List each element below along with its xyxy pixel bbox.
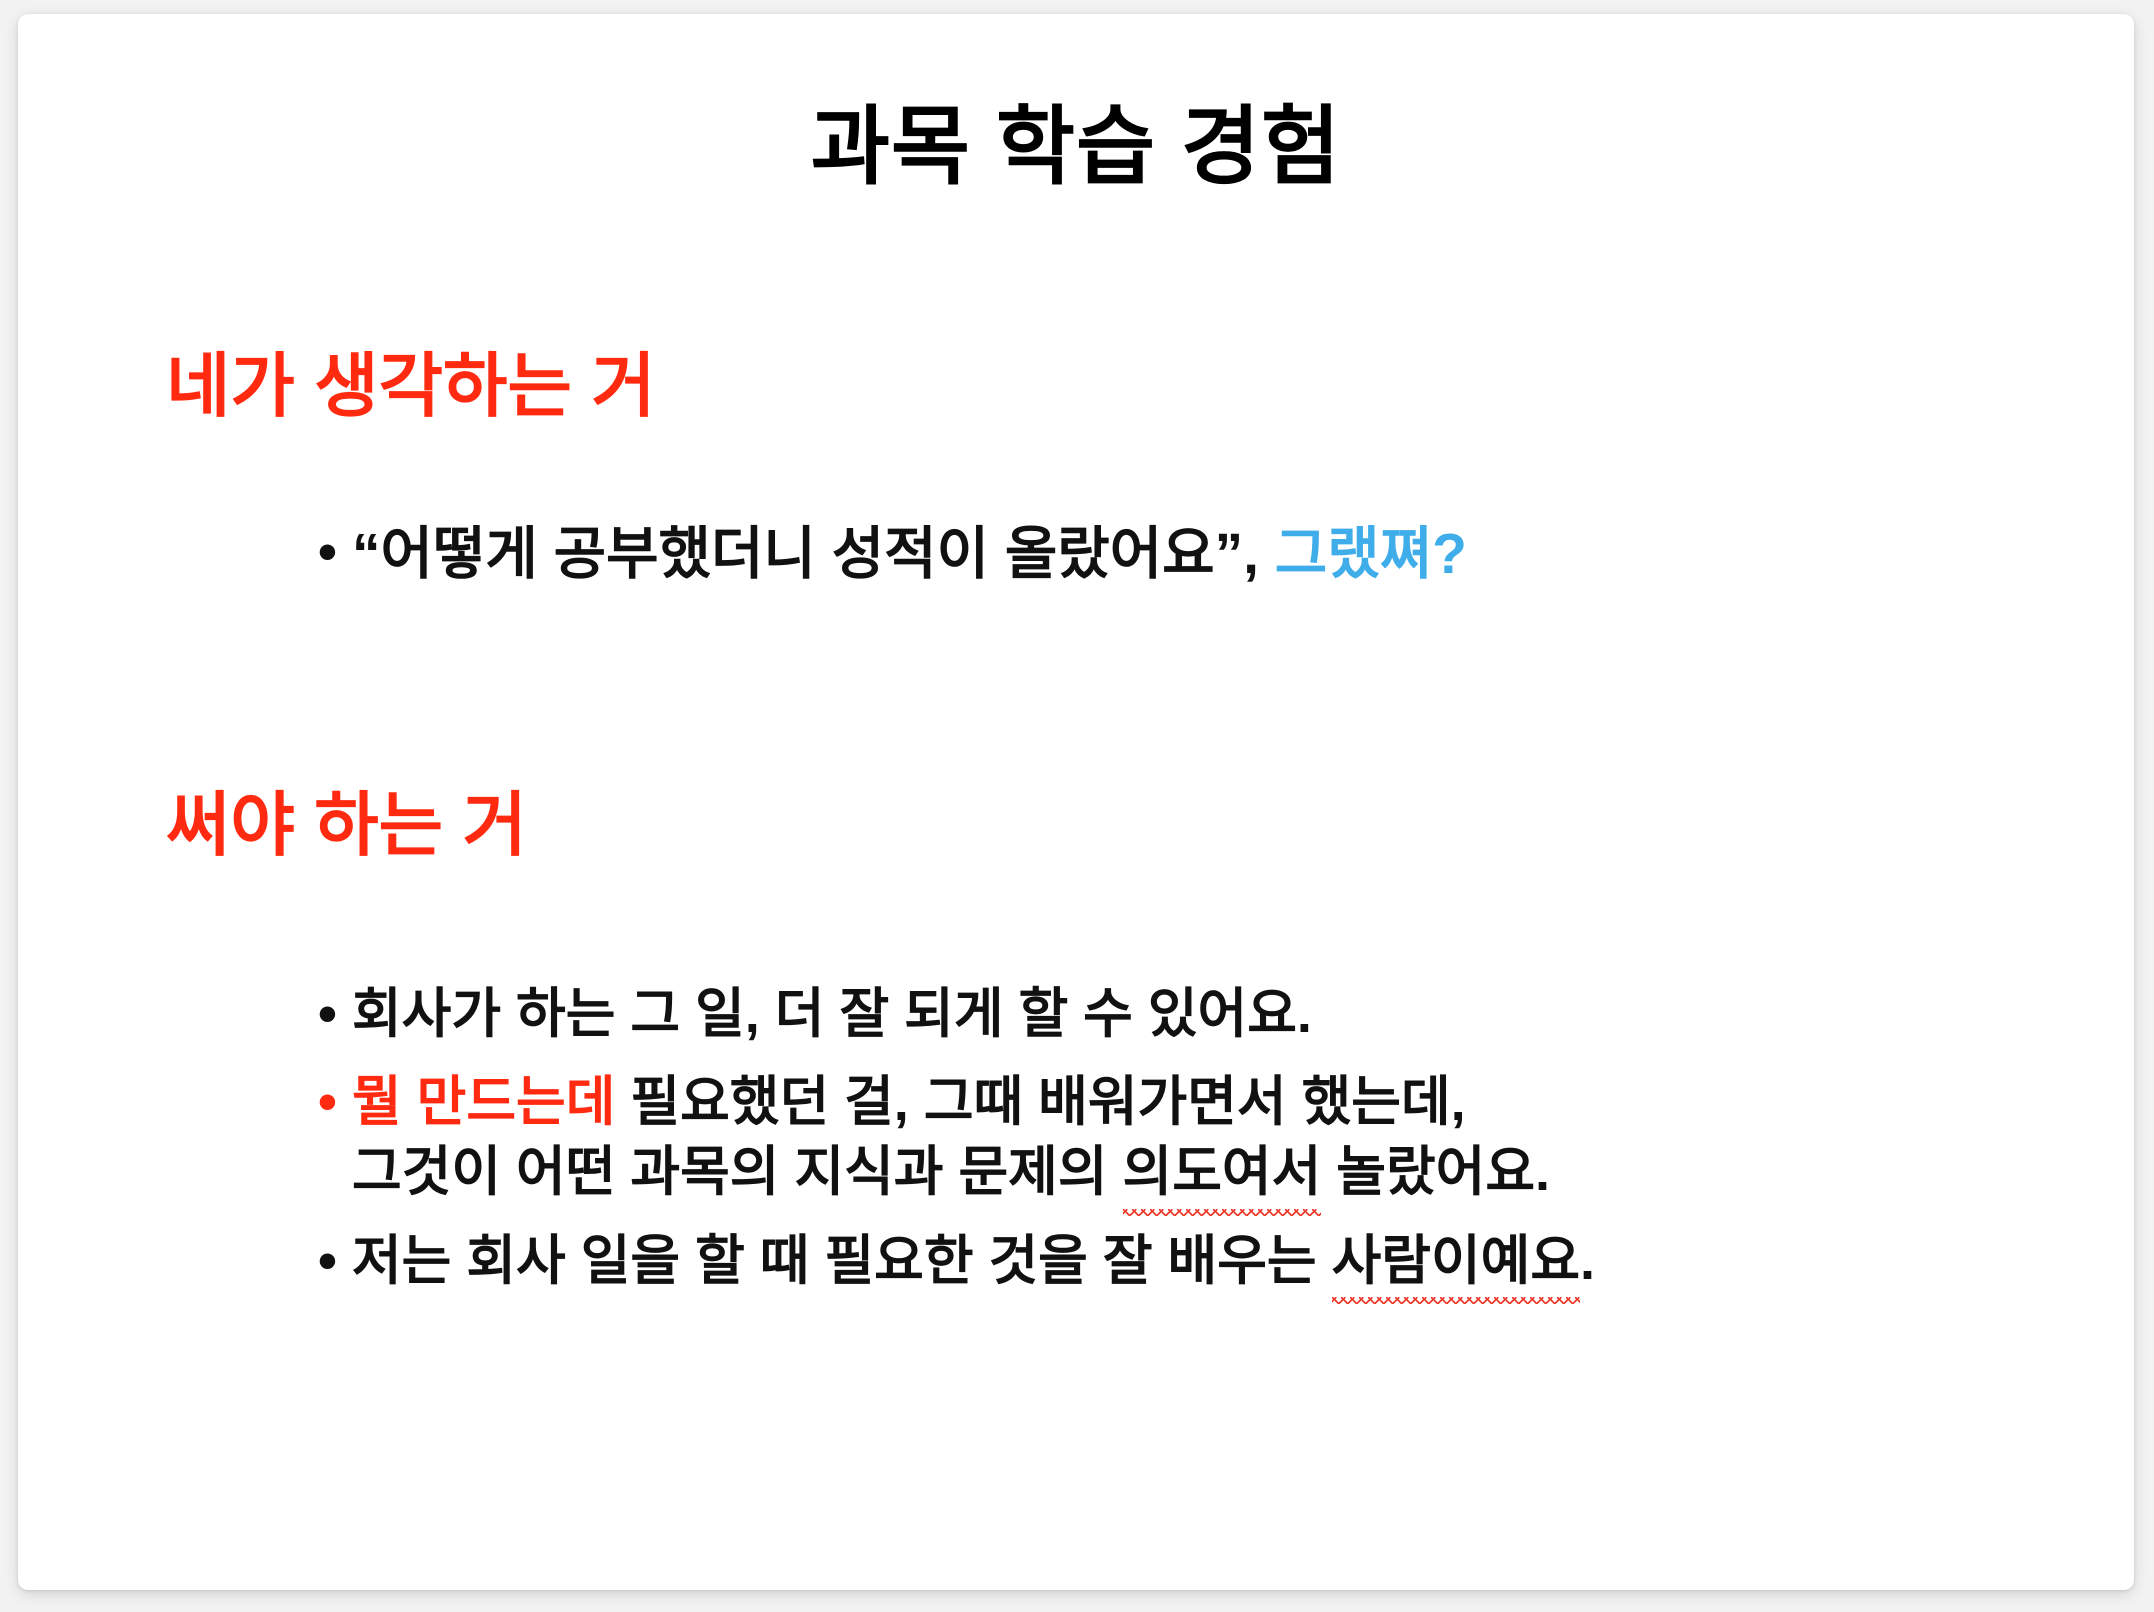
- text-segment: 회사가 하는 그 일, 더 잘 되게 할 수 있어요.: [352, 984, 1312, 1044]
- bullet-list-should-write: • 회사가 하는 그 일, 더 잘 되게 할 수 있어요. • 뭘 만드는데 필…: [318, 979, 1595, 1296]
- section-heading-should-write: 써야 하는 거: [166, 786, 527, 864]
- list-item-line: “어떻게 공부했더니 성적이 올랐어요”, 그랬쪄?: [352, 517, 1467, 591]
- text-segment-highlight: 뭘 만드는데: [352, 1072, 615, 1132]
- list-item-line: 저는 회사 일을 할 때 필요한 것을 잘 배우는 사람이예요.: [352, 1226, 1595, 1296]
- spellcheck-flagged-text: 의도여서: [1123, 1137, 1322, 1207]
- text-segment: 필요했던 걸, 그때 배워가면서 했는데,: [615, 1072, 1465, 1132]
- text-segment-highlight: 그랬쪄?: [1275, 522, 1467, 586]
- text-segment: .: [1580, 1231, 1595, 1291]
- bullet-list-you-think: • “어떻게 공부했더니 성적이 올랐어요”, 그랬쪄?: [318, 517, 1467, 591]
- list-item-text: 회사가 하는 그 일, 더 잘 되게 할 수 있어요.: [352, 979, 1595, 1049]
- list-item: • “어떻게 공부했더니 성적이 올랐어요”, 그랬쪄?: [318, 517, 1467, 591]
- list-item-line: 회사가 하는 그 일, 더 잘 되게 할 수 있어요.: [352, 979, 1595, 1049]
- text-segment: 놀랐어요.: [1321, 1142, 1550, 1202]
- bullet-marker-icon: •: [318, 1226, 352, 1296]
- list-item-text: 저는 회사 일을 할 때 필요한 것을 잘 배우는 사람이예요.: [352, 1226, 1595, 1296]
- spellcheck-flagged-text: 사람이예요: [1332, 1226, 1580, 1296]
- text-segment: “어떻게 공부했더니 성적이 올랐어요”,: [352, 522, 1275, 586]
- bullet-marker-icon: •: [318, 979, 352, 1049]
- list-item-text: 뭘 만드는데 필요했던 걸, 그때 배워가면서 했는데, 그것이 어떤 과목의 …: [352, 1067, 1595, 1207]
- section-heading-you-think: 네가 생각하는 거: [166, 347, 656, 425]
- slide-content: 과목 학습 경험 네가 생각하는 거 • “어떻게 공부했더니 성적이 올랐어요…: [18, 14, 2134, 1590]
- bullet-marker-icon: •: [318, 1067, 352, 1137]
- page-title: 과목 학습 경험: [18, 100, 2134, 195]
- list-item: • 뭘 만드는데 필요했던 걸, 그때 배워가면서 했는데, 그것이 어떤 과목…: [318, 1067, 1595, 1207]
- list-item-line: 그것이 어떤 과목의 지식과 문제의 의도여서 놀랐어요.: [352, 1137, 1595, 1207]
- list-item-text: “어떻게 공부했더니 성적이 올랐어요”, 그랬쪄?: [352, 517, 1467, 591]
- slide-card: 과목 학습 경험 네가 생각하는 거 • “어떻게 공부했더니 성적이 올랐어요…: [18, 14, 2134, 1590]
- text-segment: 그것이 어떤 과목의 지식과 문제의: [352, 1142, 1123, 1202]
- list-item: • 회사가 하는 그 일, 더 잘 되게 할 수 있어요.: [318, 979, 1595, 1049]
- text-segment: 저는 회사 일을 할 때 필요한 것을 잘 배우는: [352, 1231, 1332, 1291]
- list-item: • 저는 회사 일을 할 때 필요한 것을 잘 배우는 사람이예요.: [318, 1226, 1595, 1296]
- list-item-line: 뭘 만드는데 필요했던 걸, 그때 배워가면서 했는데,: [352, 1067, 1595, 1137]
- bullet-marker-icon: •: [318, 517, 352, 587]
